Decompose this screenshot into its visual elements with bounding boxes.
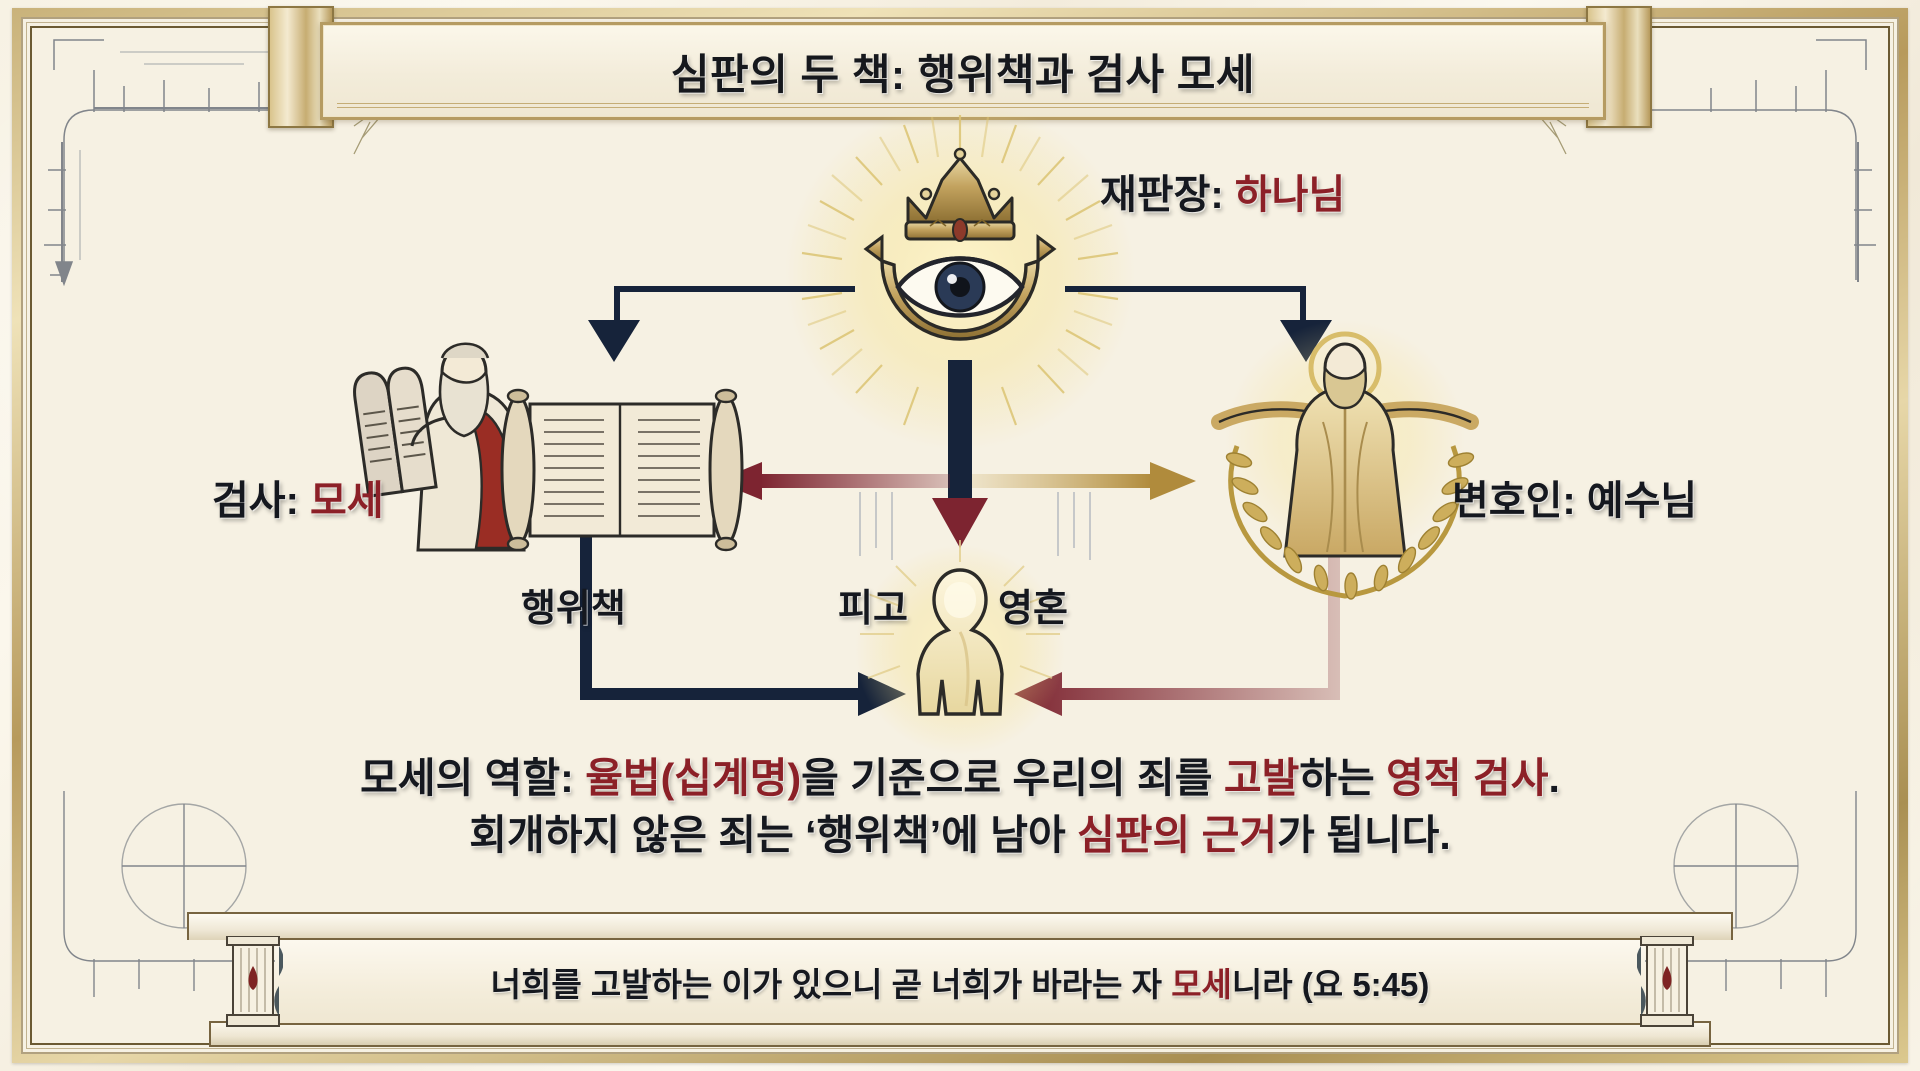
body-l2-b: 가 됩니다. xyxy=(1277,812,1451,858)
body-l1-a: 모세의 역할: xyxy=(360,755,585,801)
label-defender: 변호인: 예수님 xyxy=(1452,468,1697,526)
label-judge-prefix: 재판장: xyxy=(1100,173,1235,217)
body-paragraph: 모세의 역할: 율법(십계명)을 기준으로 우리의 죄를 고발하는 영적 검사.… xyxy=(60,750,1860,865)
body-line-1: 모세의 역할: 율법(십계명)을 기준으로 우리의 죄를 고발하는 영적 검사. xyxy=(60,750,1860,807)
label-prosecutor-prefix: 검사: xyxy=(212,479,310,523)
scripture-text: 너희를 고발하는 이가 있으니 곧 너희가 바라는 자 모세니라 (요 5:45… xyxy=(491,958,1430,1006)
body-line-2: 회개하지 않은 죄는 ‘행위책’에 남아 심판의 근거가 됩니다. xyxy=(60,807,1860,864)
page-title: 심판의 두 책: 행위책과 검사 모세 xyxy=(671,41,1255,102)
body-l1-c: 하는 xyxy=(1299,755,1386,801)
inner-frame-line xyxy=(30,26,1890,1045)
scripture-banner-wrap: 너희를 고발하는 이가 있으니 곧 너희가 바라는 자 모세니라 (요 5:45… xyxy=(215,912,1705,1047)
slide-canvas: 심판의 두 책: 행위책과 검사 모세 xyxy=(0,0,1920,1071)
label-prosecutor-value: 모세 xyxy=(310,479,384,523)
body-l2-a: 회개하지 않은 죄는 ‘행위책’에 남아 xyxy=(469,812,1077,858)
body-l1-red2: 고발 xyxy=(1224,755,1299,801)
body-l2-red1: 심판의 근거 xyxy=(1077,812,1277,858)
body-l1-red1: 율법(십계명) xyxy=(585,755,801,801)
scripture-banner: 너희를 고발하는 이가 있으니 곧 너희가 바라는 자 모세니라 (요 5:45… xyxy=(275,938,1645,1025)
label-accused: 피고 xyxy=(838,577,908,632)
label-prosecutor: 검사: 모세 xyxy=(212,468,384,526)
pillar-icon xyxy=(223,936,283,1027)
label-book-of-works: 행위책 xyxy=(521,577,626,632)
scripture-a: 너희를 고발하는 이가 있으니 곧 너희가 바라는 자 xyxy=(491,966,1172,1003)
label-judge: 재판장: 하나님 xyxy=(1100,162,1345,220)
label-soul: 영혼 xyxy=(998,577,1068,632)
label-judge-value: 하나님 xyxy=(1235,173,1345,217)
scripture-red: 모세 xyxy=(1171,966,1232,1003)
body-l1-red3: 영적 검사 xyxy=(1386,755,1548,801)
title-banner: 심판의 두 책: 행위책과 검사 모세 xyxy=(320,22,1606,120)
scripture-b: 니라 (요 5:45) xyxy=(1232,966,1429,1003)
banner-top-ledge xyxy=(187,912,1733,940)
body-l1-b: 을 기준으로 우리의 죄를 xyxy=(801,755,1224,801)
pillar-icon xyxy=(1637,936,1697,1027)
body-l1-d: . xyxy=(1548,755,1559,801)
